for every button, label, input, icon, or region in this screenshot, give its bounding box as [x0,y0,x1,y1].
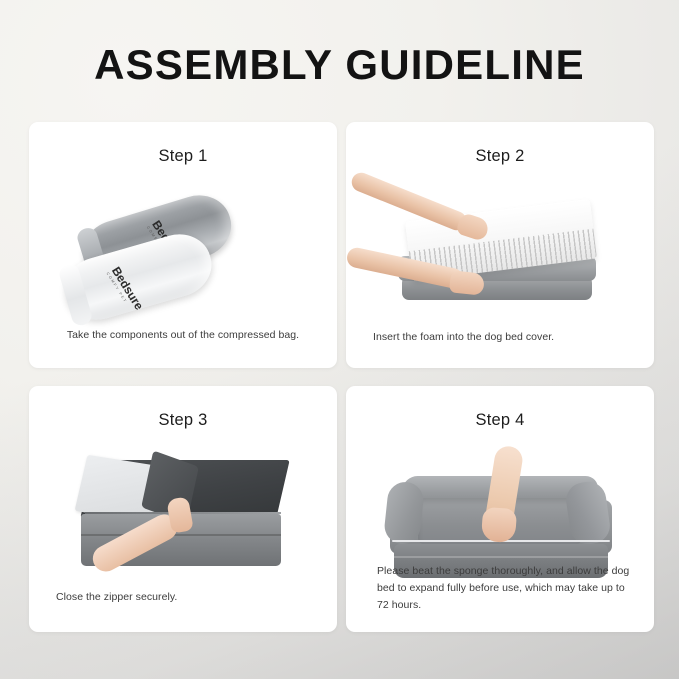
step-1-caption: Take the components out of the compresse… [29,327,337,344]
step-2-caption: Insert the foam into the dog bed cover. [346,329,654,346]
step-2-heading: Step 2 [346,122,654,166]
step-1-illustration: Bedsure COMFY PET Bedsure COMFY PET [29,184,337,324]
step-1-heading: Step 1 [29,122,337,166]
step-3-caption: Close the zipper securely. [29,589,337,606]
step-4-heading: Step 4 [346,386,654,430]
step-card-2: Step 2 Insert the foam into the dog bed … [346,122,654,368]
brand-label-white: Bedsure COMFY PET [106,264,147,314]
step-3-heading: Step 3 [29,386,337,430]
step-card-1: Step 1 Bedsure COMFY PET Bedsure COMFY P… [29,122,337,368]
steps-grid: Step 1 Bedsure COMFY PET Bedsure COMFY P… [29,122,650,632]
step-card-3: Step 3 Close the zipper securely. [29,386,337,632]
step-card-4: Step 4 Please beat the sponge thoroughly… [346,386,654,632]
bed-seam-icon [81,534,281,536]
step-3-illustration [29,456,337,591]
assembly-guideline-page: ASSEMBLY GUIDELINE Step 1 Bedsure COMFY … [0,0,679,679]
step-4-caption: Please beat the sponge thoroughly, and a… [346,563,654,614]
step-2-illustration [346,180,654,330]
page-title: ASSEMBLY GUIDELINE [0,40,679,90]
